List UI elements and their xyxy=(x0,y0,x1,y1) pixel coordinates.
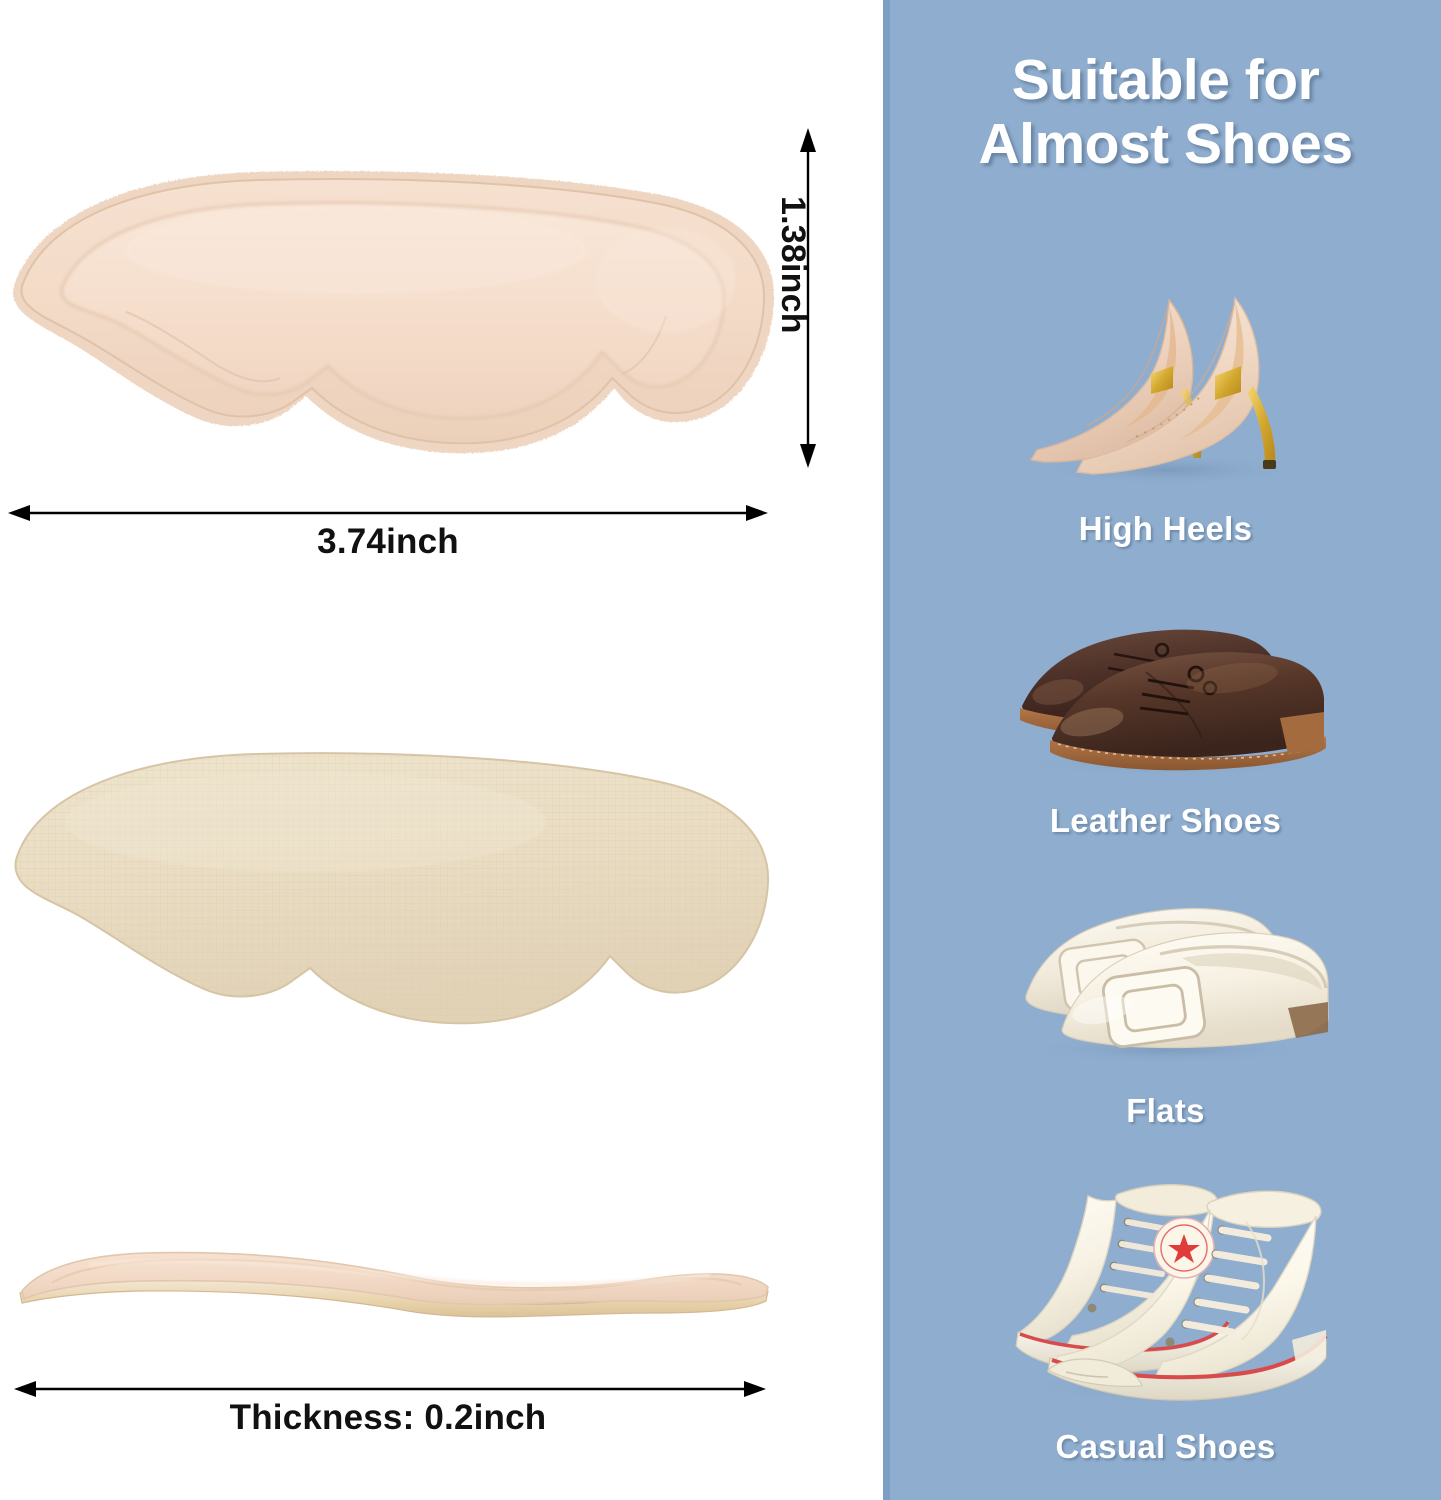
shoe-category-high-heels: High Heels xyxy=(890,262,1441,548)
panel-heading-line-2: Almost Shoes xyxy=(904,112,1427,176)
product-detail-panel: 3.74inch 1.38inch xyxy=(0,0,883,1500)
shoe-category-casual-shoes: Casual Shoes xyxy=(890,1160,1441,1466)
shoe-category-label: Leather Shoes xyxy=(890,802,1441,840)
heel-grip-back-view xyxy=(6,742,781,1042)
buckle-flats-icon xyxy=(890,880,1441,1070)
shoe-category-label: High Heels xyxy=(890,510,1441,548)
width-dimension-label: 3.74inch xyxy=(0,522,776,562)
product-infographic: 3.74inch 1.38inch xyxy=(0,0,1441,1500)
shoe-category-label: Casual Shoes xyxy=(890,1428,1441,1466)
panel-heading-line-1: Suitable for xyxy=(904,48,1427,112)
shoe-category-flats: Flats xyxy=(890,880,1441,1130)
heel-grip-front-view xyxy=(6,160,781,465)
high-top-sneaker-icon xyxy=(890,1160,1441,1408)
panel-heading: Suitable for Almost Shoes xyxy=(890,48,1441,177)
leather-derby-icon xyxy=(890,596,1441,782)
heel-grip-side-view xyxy=(10,1243,780,1353)
high-heel-pumps-icon xyxy=(890,262,1441,494)
thickness-dimension-label: Thickness: 0.2inch xyxy=(0,1398,776,1438)
suitable-shoes-panel: Suitable for Almost Shoes xyxy=(883,0,1441,1500)
height-dimension-label: 1.38inch xyxy=(773,196,812,334)
shoe-category-label: Flats xyxy=(890,1092,1441,1130)
shoe-category-leather-shoes: Leather Shoes xyxy=(890,596,1441,840)
